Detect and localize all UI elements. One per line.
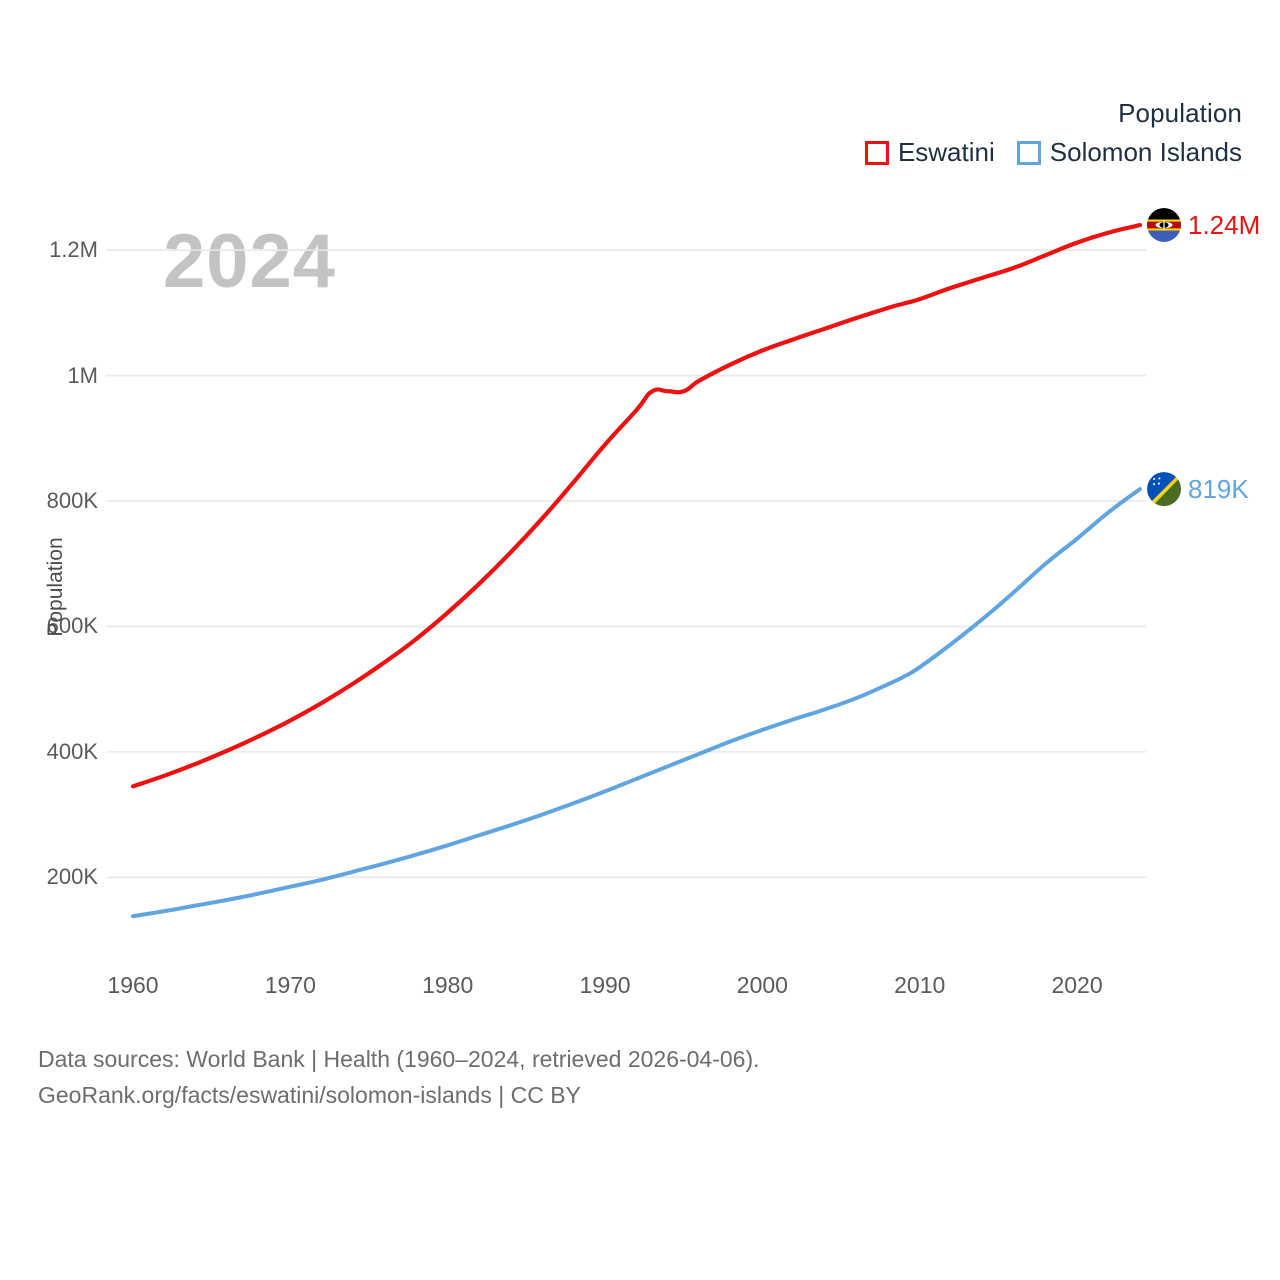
solomon-islands-flag-icon xyxy=(1147,472,1181,506)
footer-line-2: GeoRank.org/facts/eswatini/solomon-islan… xyxy=(38,1078,760,1114)
y-tick-label: 1M xyxy=(2,363,98,389)
series-line-eswatini xyxy=(133,225,1140,786)
series-line-solomon-islands xyxy=(133,489,1140,916)
population-chart-page: Population Eswatini Solomon Islands 2024… xyxy=(0,0,1280,1280)
footer-attribution: Data sources: World Bank | Health (1960–… xyxy=(38,1042,760,1113)
footer-line-1: Data sources: World Bank | Health (1960–… xyxy=(38,1042,760,1078)
y-tick-label: 1.2M xyxy=(2,237,98,263)
x-tick-label: 2010 xyxy=(865,972,975,999)
y-axis-label: Population xyxy=(44,507,68,667)
x-tick-label: 1960 xyxy=(78,972,188,999)
x-tick-label: 2020 xyxy=(1022,972,1132,999)
endpoint-eswatini[interactable]: 1.24M xyxy=(1147,208,1260,242)
y-tick-label: 400K xyxy=(2,739,98,765)
y-tick-label: 200K xyxy=(2,864,98,890)
endpoint-value-eswatini: 1.24M xyxy=(1188,210,1260,241)
x-tick-label: 1980 xyxy=(393,972,503,999)
eswatini-flag-icon xyxy=(1147,208,1181,242)
x-tick-label: 1990 xyxy=(550,972,660,999)
x-tick-label: 1970 xyxy=(235,972,345,999)
x-tick-label: 2000 xyxy=(707,972,817,999)
series-lines xyxy=(133,225,1140,916)
endpoint-solomon-islands[interactable]: 819K xyxy=(1147,472,1249,506)
endpoint-value-solomon-islands: 819K xyxy=(1188,474,1249,505)
